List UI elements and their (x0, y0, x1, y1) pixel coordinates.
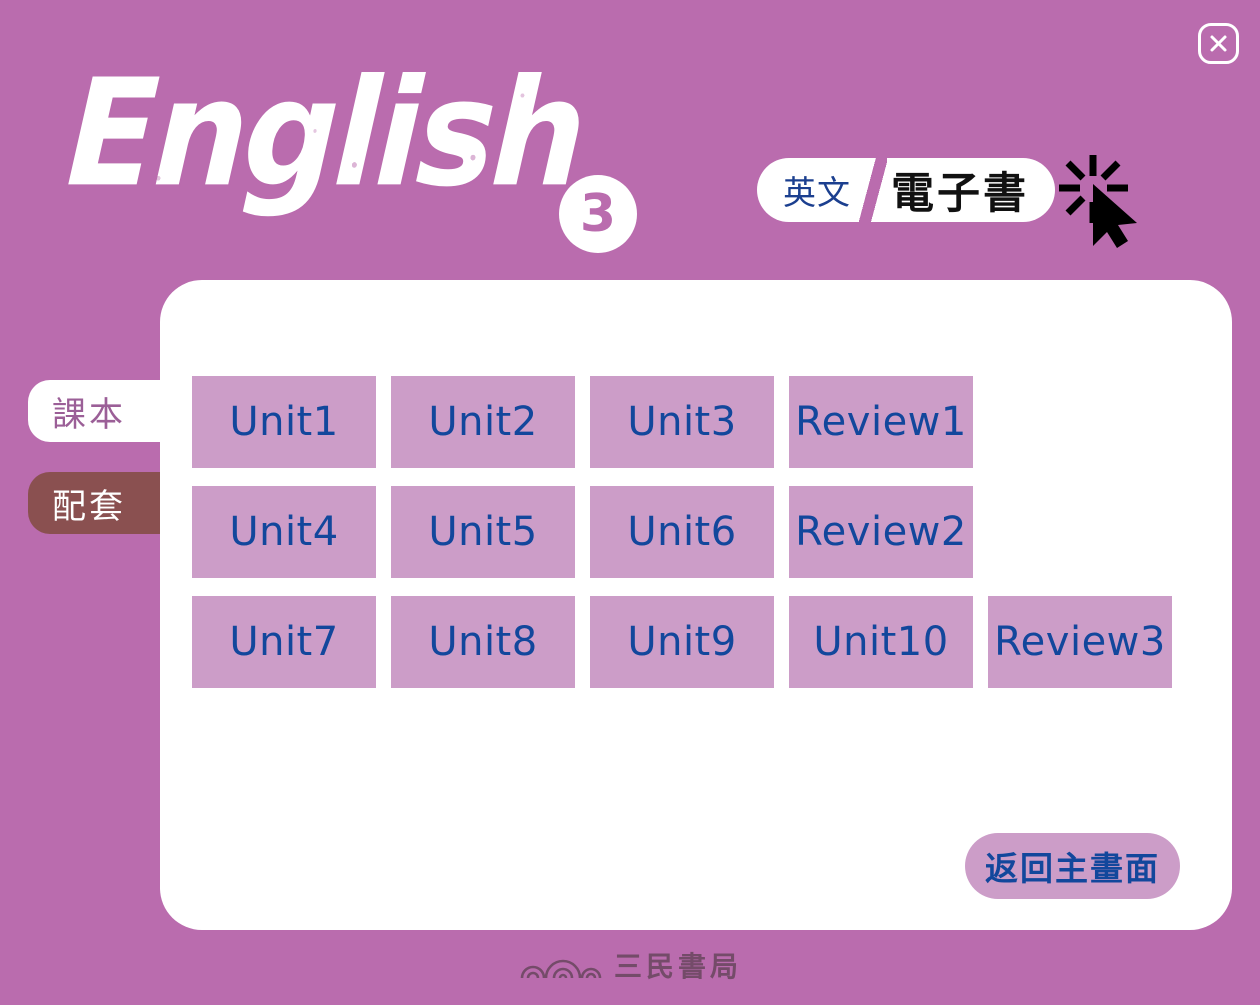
unit-row: Unit1Unit2Unit3Review1 (192, 376, 1202, 468)
ebook-kind-label: 電子書 (887, 159, 1055, 221)
unit-button-unit7[interactable]: Unit7 (192, 596, 376, 688)
ebook-unit-selection-screen: English 3 英文 電子書 課本 配套 Unit1Unit2Unit3Re… (0, 0, 1260, 1005)
brand-logo: English 3 (72, 52, 642, 237)
unit-button-unit6[interactable]: Unit6 (590, 486, 774, 578)
unit-button-unit5[interactable]: Unit5 (391, 486, 575, 578)
pill-slash-divider (857, 158, 887, 222)
sidebar-tab-textbook-label: 課本 (52, 387, 126, 436)
sanmin-arch-icon (518, 948, 604, 982)
title-pill: 英文 電子書 (757, 158, 1055, 222)
unit-row: Unit7Unit8Unit9Unit10Review3 (192, 596, 1202, 688)
publisher-name: 三民書局 (614, 945, 742, 985)
subject-label: 英文 (761, 166, 857, 214)
content-panel: Unit1Unit2Unit3Review1Unit4Unit5Unit6Rev… (160, 280, 1232, 930)
unit-grid: Unit1Unit2Unit3Review1Unit4Unit5Unit6Rev… (192, 376, 1202, 706)
unit-button-unit4[interactable]: Unit4 (192, 486, 376, 578)
unit-row: Unit4Unit5Unit6Review2 (192, 486, 1202, 578)
unit-button-review2[interactable]: Review2 (789, 486, 973, 578)
unit-button-unit10[interactable]: Unit10 (789, 596, 973, 688)
unit-button-unit9[interactable]: Unit9 (590, 596, 774, 688)
close-button[interactable] (1198, 23, 1239, 64)
unit-button-review1[interactable]: Review1 (789, 376, 973, 468)
brand-wordmark: English (64, 60, 585, 208)
unit-button-unit8[interactable]: Unit8 (391, 596, 575, 688)
return-home-button[interactable]: 返回主畫面 (965, 833, 1180, 899)
click-cursor-icon (1055, 140, 1165, 250)
publisher-logo: 三民書局 (0, 943, 1260, 987)
unit-button-unit3[interactable]: Unit3 (590, 376, 774, 468)
unit-button-review3[interactable]: Review3 (988, 596, 1172, 688)
close-x-icon (1201, 26, 1236, 61)
brand-level-badge: 3 (559, 175, 637, 253)
sidebar-tab-supplement-label: 配套 (52, 479, 126, 528)
unit-button-unit2[interactable]: Unit2 (391, 376, 575, 468)
unit-button-unit1[interactable]: Unit1 (192, 376, 376, 468)
